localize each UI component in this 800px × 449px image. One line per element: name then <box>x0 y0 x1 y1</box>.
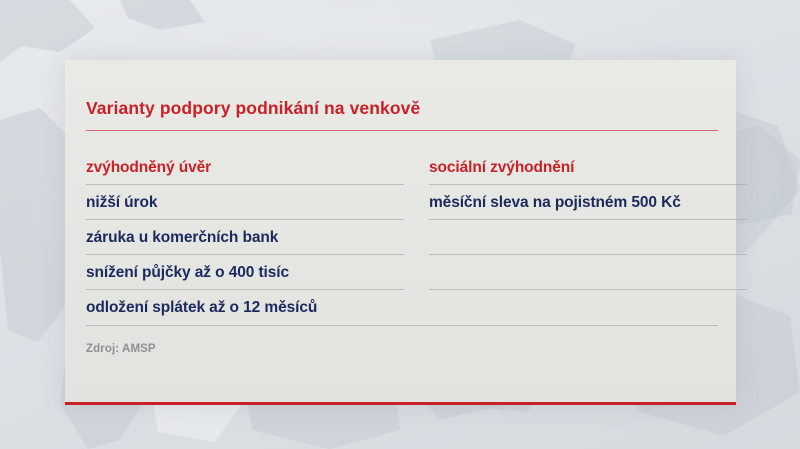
left-item-label-4: odložení splátek až o 12 měsíců <box>86 299 317 317</box>
left-item-label-2: záruka u komerčních bank <box>86 229 278 247</box>
left-column-header-label: zvýhodněný úvěr <box>86 159 211 177</box>
bottom-divider <box>86 325 718 326</box>
left-item-label-1: nižší úrok <box>86 194 157 212</box>
right-column-header-label: sociální zvýhodnění <box>429 159 574 177</box>
card-content: Varianty podpory podnikání na venkově zv… <box>86 60 718 402</box>
list-item-empty <box>429 255 747 290</box>
right-column: sociální zvýhodnění měsíční sleva na poj… <box>429 150 747 325</box>
left-column: zvýhodněný úvěr nižší úrok záruka u kome… <box>86 150 404 325</box>
info-card: Varianty podpory podnikání na venkově zv… <box>65 60 736 405</box>
list-item: nižší úrok <box>86 185 404 220</box>
list-item: záruka u komerčních bank <box>86 220 404 255</box>
title-underline <box>86 130 718 131</box>
list-item: měsíční sleva na pojistném 500 Kč <box>429 185 747 220</box>
left-item-label-3: snížení půjčky až o 400 tisíc <box>86 264 289 282</box>
list-item: odložení splátek až o 12 měsíců <box>86 290 404 325</box>
infographic-screen: Varianty podpory podnikání na venkově zv… <box>0 0 800 449</box>
right-column-header-row: sociální zvýhodnění <box>429 150 747 185</box>
left-column-header-row: zvýhodněný úvěr <box>86 150 404 185</box>
source-attribution: Zdroj: AMSP <box>86 343 156 355</box>
right-item-label-1: měsíční sleva na pojistném 500 Kč <box>429 194 681 212</box>
list-item: snížení půjčky až o 400 tisíc <box>86 255 404 290</box>
list-item-empty <box>429 290 747 325</box>
page-title: Varianty podpory podnikání na venkově <box>86 98 420 119</box>
list-item-empty <box>429 220 747 255</box>
